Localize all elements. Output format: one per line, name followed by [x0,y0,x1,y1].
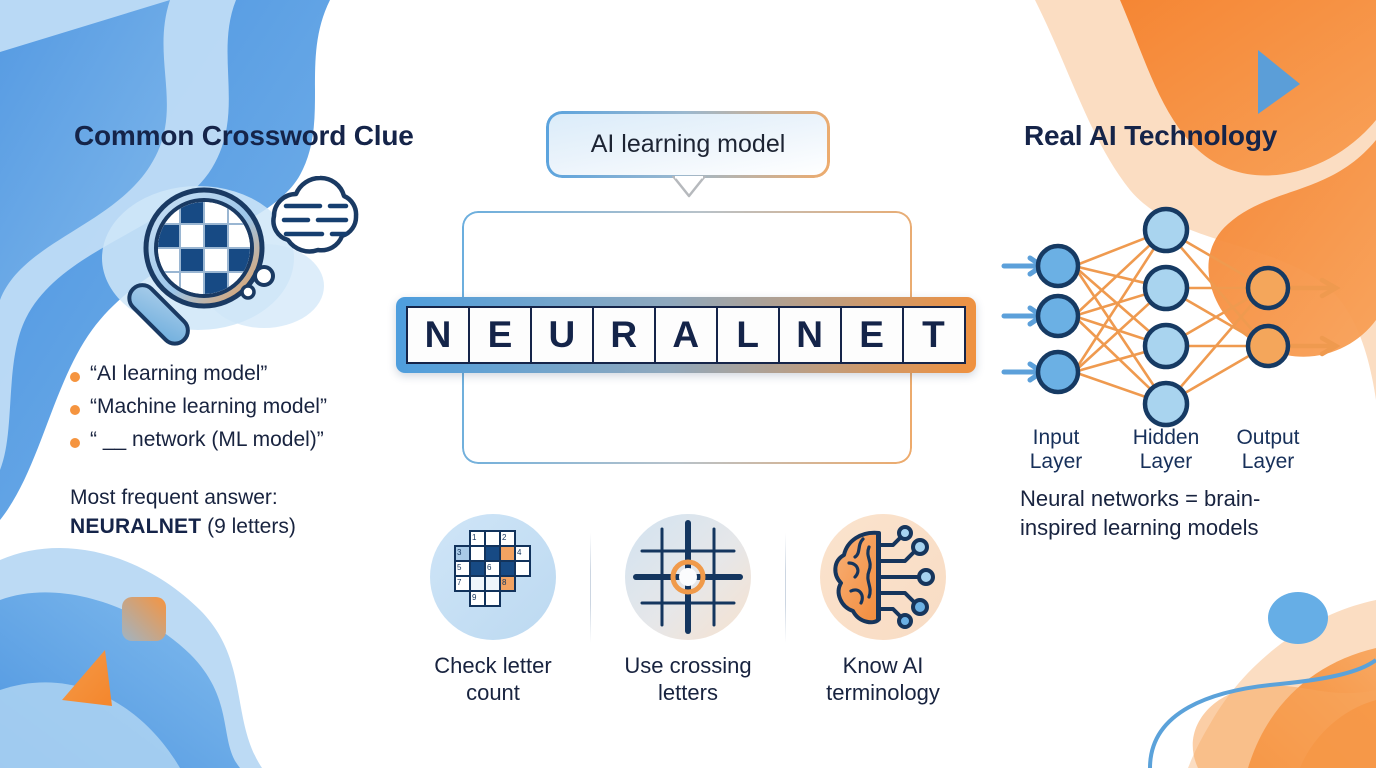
tip-check-letter-count: 12 34 56 78 9 Check letter count [396,513,590,729]
letter-cell: A [654,306,718,364]
answer-word: NEURALNET [70,515,201,538]
clue-bullet-list: “AI learning model” “Machine learning mo… [70,362,470,461]
bullet-dot-icon [70,438,80,448]
svg-text:5: 5 [457,563,462,572]
right-section-title: Real AI Technology [1024,120,1376,152]
svg-text:7: 7 [457,578,462,587]
tip-label: Use crossing letters [624,653,751,707]
ai-brain-circuit-icon [819,513,947,641]
svg-text:9: 9 [472,593,477,602]
svg-text:1: 1 [472,533,477,542]
caption-line1: Neural networks = brain- [1020,486,1260,511]
tip-label-line1: Know AI [843,653,924,678]
tip-use-crossing-letters: Use crossing letters [591,513,785,729]
blue-circle-decoration [1268,592,1328,644]
layer-label-hidden-2: Layer [1140,450,1193,473]
left-section-title: Common Crossword Clue [74,120,474,152]
letter-cell: E [840,306,904,364]
tip-label-line2: letters [658,680,718,705]
tip-label-line1: Check letter [434,653,551,678]
answer-letter-count: (9 letters) [201,515,296,538]
letter-cell: U [530,306,594,364]
answer-note-heading: Most frequent answer: [70,486,278,509]
letter-cell: N [406,306,470,364]
svg-text:3: 3 [457,548,462,557]
list-item: “Machine learning model” [70,395,470,419]
tip-label: Check letter count [434,653,551,707]
layer-label-input-2: Layer [1030,450,1083,473]
blue-triangle-decoration [1258,50,1300,114]
orange-triangle-decoration [62,650,112,706]
bullet-label: “Machine learning model” [90,395,327,419]
layer-label-hidden: Hidden [1133,426,1200,449]
tip-know-ai-terminology: Know AI terminology [786,513,980,729]
bullet-dot-icon [70,372,80,382]
mini-crossword-grid-icon: 12 34 56 78 9 [429,513,557,641]
svg-text:6: 6 [487,563,492,572]
tip-label-line2: terminology [826,680,940,705]
letter-cell: T [902,306,966,364]
magnifier-crossword-thought-icon [78,168,368,348]
infographic-canvas: Common Crossword Clue [0,0,1376,768]
letter-cell: R [592,306,656,364]
layer-label-input: Input [1033,426,1080,449]
svg-text:8: 8 [502,578,507,587]
crossing-letters-target-icon [624,513,752,641]
orange-square-decoration [122,597,166,641]
tips-row: 12 34 56 78 9 Check letter count [396,513,980,729]
bullet-dot-icon [70,405,80,415]
bullet-label: “ __ network (ML model)” [90,428,324,452]
tip-label: Know AI terminology [826,653,940,707]
caption-line2: inspired learning models [1020,515,1258,540]
clue-bubble-border [546,111,830,178]
letter-cell: N [778,306,842,364]
left-column: Common Crossword Clue [74,120,474,152]
crossword-answer-bar: N E U R A L N E T [396,297,976,373]
neural-network-caption: Neural networks = brain- inspired learni… [1020,484,1350,543]
neural-network-diagram: Input Layer Hidden Layer Output Layer [996,200,1346,486]
blue-curve-decoration [1150,660,1376,768]
right-column: Real AI Technology [1024,120,1376,152]
layer-label-output: Output [1236,426,1299,449]
letter-cell: E [468,306,532,364]
layer-label-output-2: Layer [1242,450,1295,473]
svg-text:4: 4 [517,548,522,557]
svg-text:2: 2 [502,533,507,542]
bullet-label: “AI learning model” [90,362,267,386]
clue-bubble-tail-icon [672,176,706,198]
tip-label-line1: Use crossing [624,653,751,678]
list-item: “ __ network (ML model)” [70,428,470,452]
letter-cell: L [716,306,780,364]
tip-label-line2: count [466,680,520,705]
